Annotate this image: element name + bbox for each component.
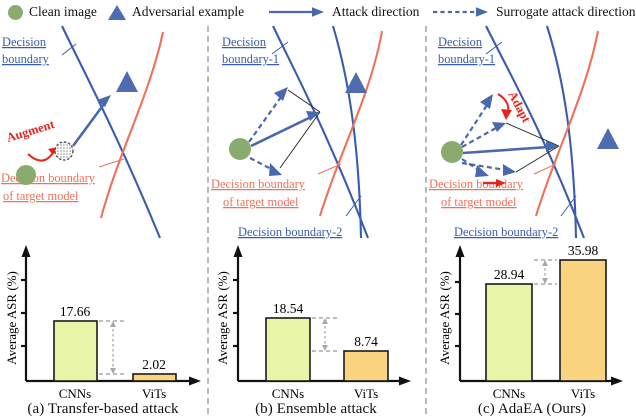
target-boundary-label-line2: of target model — [223, 195, 299, 209]
bar-cnns — [266, 318, 310, 381]
attack-direction-arrow — [73, 104, 104, 146]
legend-label-attack-direction: Attack direction — [332, 5, 419, 19]
blue-triangle-marker-icon — [108, 5, 126, 20]
bar-value-vits: 8.74 — [354, 334, 378, 349]
decision-boundary-1-label-line1: Decision — [438, 35, 482, 49]
parallelogram-guide-right — [280, 112, 320, 168]
bar-value-vits: 2.02 — [142, 357, 166, 372]
panel-b-diagram: Decision boundary-1 Decision boundary of… — [210, 24, 422, 242]
legend-label-adversarial-example: Adversarial example — [132, 5, 244, 19]
bar-vits — [560, 260, 606, 381]
legend-item-adversarial-example: Adversarial example — [108, 0, 244, 24]
decision-boundary-2-label: Decision boundary-2 — [454, 225, 558, 239]
parallelogram-guide-top — [288, 90, 320, 112]
augment-curved-arrow — [28, 151, 54, 161]
x-tick-label-vits: ViTs — [571, 386, 595, 401]
panel-b-chart: Average ASR (%) 18.54 8.74 CNNs ViTs — [210, 238, 422, 420]
gap-arrowhead-top — [322, 318, 328, 324]
bar-value-cnns: 17.66 — [60, 304, 91, 319]
panel-b-caption: (b) Ensemble attack — [210, 401, 422, 418]
target-boundary-label-line1: Decision boundary — [429, 177, 524, 191]
bar-vits — [133, 374, 176, 381]
x-tick-label-vits: ViTs — [142, 386, 166, 401]
figure-root: Clean image Adversarial example Attack d… — [0, 0, 636, 420]
clean-image-circle — [441, 141, 463, 163]
adapt-red-arrow-up-head — [501, 109, 512, 120]
x-tick-label-cnns: CNNs — [493, 386, 526, 401]
surrogate-arrow-down-head — [269, 163, 282, 176]
decision-boundary-curve — [62, 26, 160, 238]
gap-arrowhead-bottom — [322, 345, 328, 351]
x-tick-label-cnns: CNNs — [59, 386, 92, 401]
panel-a: Decision boundary Decision boundary of t… — [0, 24, 206, 420]
gap-arrowhead-top — [542, 260, 548, 266]
y-axis-arrowhead — [234, 245, 243, 257]
bar-vits — [344, 351, 388, 381]
y-axis-label: Average ASR (%) — [4, 271, 19, 365]
panel-c: Decision boundary-1 Decision boundary of… — [428, 24, 636, 420]
legend-item-attack-direction: Attack direction — [268, 0, 419, 24]
surrogate-arrow-adapted-up-head — [492, 122, 506, 132]
adversarial-triangle — [116, 71, 138, 92]
panel-a-diagram: Decision boundary Decision boundary of t… — [0, 24, 206, 242]
bar-value-cnns: 18.54 — [273, 301, 304, 316]
gap-arrowhead-bottom — [110, 368, 116, 374]
x-tick-label-vits: ViTs — [354, 386, 378, 401]
x-axis-arrowhead — [611, 377, 623, 386]
rhombus-guide-top — [506, 123, 559, 146]
decision-boundary-1-label-line2: boundary-1 — [438, 52, 495, 66]
panel-c-chart: Average ASR (%) 28.94 35.98 CNNs ViTs — [428, 238, 636, 420]
gap-arrowhead-top — [110, 321, 116, 327]
ensemble-attack-arrow — [251, 117, 311, 146]
legend-label-surrogate-attack-direction: Surrogate attack direction — [496, 5, 635, 19]
bar-cnns — [54, 321, 97, 381]
panel-b: Decision boundary-1 Decision boundary of… — [210, 24, 422, 420]
adaea-attack-arrow — [463, 147, 549, 153]
panel-a-caption: (a) Transfer-based attack — [0, 401, 206, 418]
target-boundary-label-line2: of target model — [441, 195, 517, 209]
x-tick-label-cnns: CNNs — [272, 386, 305, 401]
surrogate-arrow-adapted-down-head — [503, 164, 516, 176]
legend-label-clean-image: Clean image — [29, 5, 97, 19]
y-axis-label: Average ASR (%) — [437, 271, 452, 365]
surrogate-arrow-up — [461, 105, 487, 145]
surrogate-arrow-up-head — [274, 87, 288, 101]
panel-c-caption: (c) AdaEA (Ours) — [428, 401, 636, 418]
bar-value-vits: 35.98 — [568, 243, 599, 258]
augment-annotation-label: Augment — [5, 117, 57, 145]
panel-divider-1 — [207, 26, 209, 414]
target-boundary-label-line1: Decision boundary — [211, 177, 306, 191]
decision-boundary-1-label-line2: boundary-1 — [222, 52, 279, 66]
clean-image-circle — [229, 138, 251, 160]
x-axis-arrowhead — [399, 377, 411, 386]
x-axis-arrowhead — [189, 377, 201, 386]
gap-arrowhead-bottom — [542, 278, 548, 284]
legend: Clean image Adversarial example Attack d… — [0, 0, 636, 24]
target-boundary-label-line1: Decision boundary — [1, 171, 96, 185]
target-boundary-label-line2: of target model — [3, 189, 79, 203]
augmented-sample-circle — [55, 142, 73, 160]
bar-cnns — [486, 284, 532, 381]
bar-value-cnns: 28.94 — [494, 267, 525, 282]
target-boundary-leader — [99, 159, 124, 167]
solid-arrow-marker-icon — [268, 5, 326, 19]
legend-item-clean-image: Clean image — [8, 0, 97, 24]
adversarial-triangle — [597, 128, 619, 149]
panel-divider-2 — [425, 26, 427, 414]
adversarial-triangle — [345, 72, 367, 93]
clean-image-circle — [16, 165, 36, 185]
decision-boundary-1-label-line1: Decision — [222, 35, 266, 49]
green-circle-marker-icon — [8, 5, 23, 20]
surrogate-arrow-down — [250, 158, 273, 170]
surrogate-arrow-adapted-down — [462, 163, 506, 170]
panel-c-diagram: Decision boundary-1 Decision boundary of… — [428, 24, 636, 242]
panel-a-chart: Average ASR (%) 17.66 2.02 CNNs ViTs — [0, 238, 206, 420]
decision-boundary-2-curve — [333, 26, 361, 238]
y-axis-arrowhead — [456, 245, 465, 257]
decision-boundary-2-label: Decision boundary-2 — [238, 225, 342, 239]
dashed-arrow-marker-icon — [432, 5, 490, 19]
target-boundary-curve — [320, 31, 382, 216]
y-axis-arrowhead — [22, 245, 31, 257]
decision-boundary-label-line1: Decision — [2, 35, 46, 49]
decision-boundary-label-line2: boundary — [2, 52, 50, 66]
legend-item-surrogate-attack-direction: Surrogate attack direction — [432, 0, 635, 24]
adapt-annotation-label: Adapt — [505, 89, 533, 126]
y-axis-label: Average ASR (%) — [215, 271, 230, 365]
attack-direction-arrow-head — [97, 95, 111, 107]
